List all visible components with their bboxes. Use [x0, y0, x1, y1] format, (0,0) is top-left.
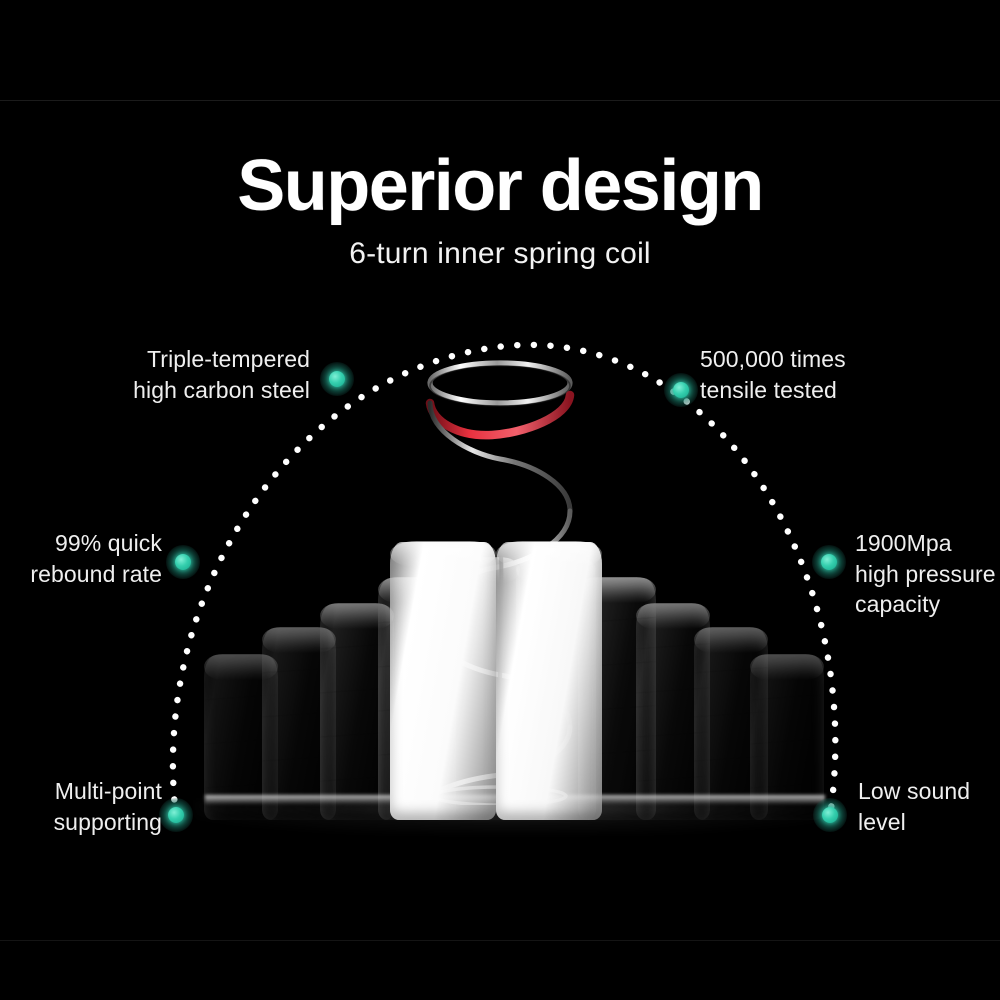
coil-cap: [390, 541, 496, 567]
spring-turn: [430, 403, 570, 511]
page-title: Superior design: [0, 150, 1000, 223]
pocket-coil-center-right: [496, 542, 602, 820]
spring-top-ring-shade: [430, 366, 570, 406]
poster-canvas: Superior design 6-turn inner spring coil: [0, 0, 1000, 1000]
node-marker-multi-point[interactable]: [159, 798, 193, 832]
callout-high-pressure-capacity: 1900Mpa high pressure capacity: [855, 528, 996, 620]
product-image: [190, 520, 840, 820]
letterbox-divider-top: [0, 100, 1000, 101]
callout-tensile-tested: 500,000 times tensile tested: [700, 344, 846, 405]
node-marker-tensile-tested[interactable]: [664, 373, 698, 407]
coil-cap: [496, 541, 602, 567]
node-marker-rebound-rate[interactable]: [166, 545, 200, 579]
node-marker-low-sound[interactable]: [813, 798, 847, 832]
page-subtitle: 6-turn inner spring coil: [0, 237, 1000, 271]
node-marker-triple-tempered[interactable]: [320, 362, 354, 396]
spring-top-ring: [430, 363, 570, 403]
callout-low-sound-level: Low sound level: [858, 776, 970, 837]
node-marker-pressure-capacity[interactable]: [812, 545, 846, 579]
spring-red-highlight-turn: [430, 395, 570, 435]
callout-triple-tempered-high-carbon-steel: Triple-tempered high carbon steel: [133, 344, 310, 405]
pocket-coil-center-left: [390, 542, 496, 820]
heading-block: Superior design 6-turn inner spring coil: [0, 150, 1000, 271]
callout-quick-rebound-rate: 99% quick rebound rate: [30, 528, 162, 589]
letterbox-divider-bottom: [0, 940, 1000, 941]
callout-multi-point-supporting: Multi-point supporting: [54, 776, 162, 837]
